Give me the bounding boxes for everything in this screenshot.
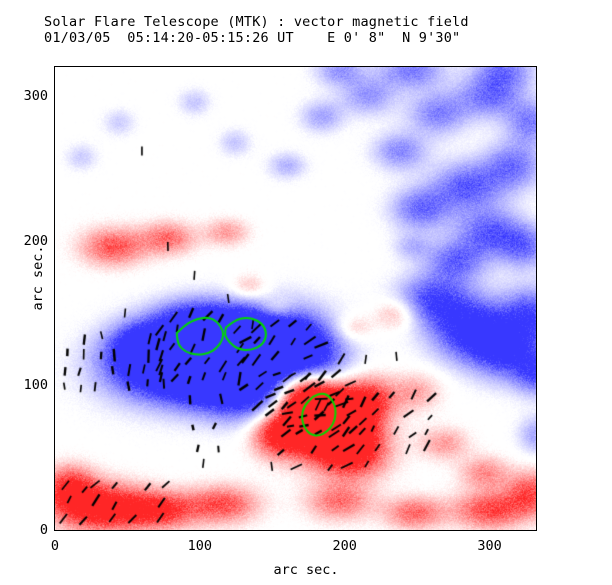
- figure-title-block: Solar Flare Telescope (MTK) : vector mag…: [44, 14, 584, 46]
- y-tick-right-0: [527, 530, 537, 531]
- title-line-1: Solar Flare Telescope (MTK) : vector mag…: [44, 14, 584, 30]
- x-tick-label-300: 300: [477, 539, 501, 553]
- y-tick-0: [54, 530, 64, 531]
- plot-frame: [54, 66, 537, 531]
- solar-magnetogram-figure: Solar Flare Telescope (MTK) : vector mag…: [0, 0, 612, 585]
- x-tick-label-0: 0: [51, 539, 59, 553]
- x-tick-label-200: 200: [333, 539, 357, 553]
- x-tick-label-100: 100: [188, 539, 212, 553]
- vector-field-overlay: [55, 67, 536, 530]
- y-tick-label-0: 0: [8, 523, 48, 537]
- y-tick-label-100: 100: [8, 378, 48, 392]
- y-axis-title: arc sec.: [30, 218, 46, 338]
- y-tick-label-300: 300: [8, 89, 48, 103]
- x-axis-title: arc sec.: [0, 562, 612, 578]
- title-line-2: 01/03/05 05:14:20-05:15:26 UT E 0' 8" N …: [44, 30, 584, 46]
